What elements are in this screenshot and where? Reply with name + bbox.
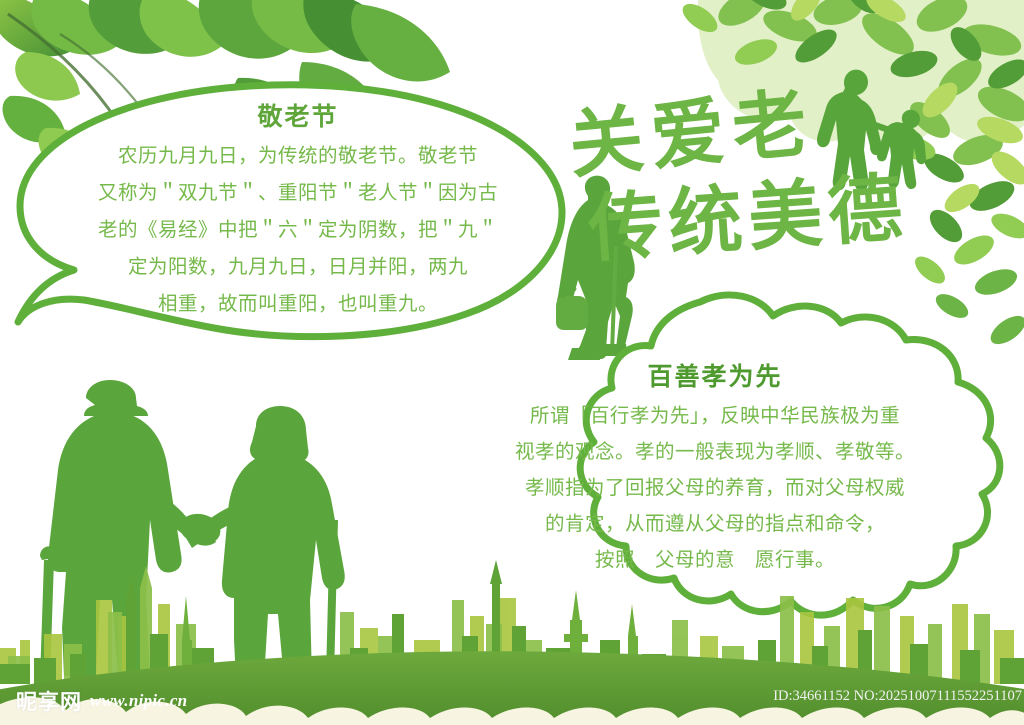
bubble1-body: 农历九月九日，为传统的敬老节。敬老节 又称为＂双九节＂、重阳节＂老人节＂因为古 … xyxy=(88,138,508,323)
bubble2-body: 所谓「百行孝为先」，反映中华民族极为重 视孝的观念。孝的一般表现为孝顺、孝敬等。… xyxy=(500,398,930,578)
bubble1-line-3: 老的《易经》中把＂六＂定为阴数，把＂九＂ xyxy=(88,212,508,249)
bubble1-title: 敬老节 xyxy=(88,100,508,134)
bubble1-line-5: 相重，故而叫重阳，也叫重九。 xyxy=(88,286,508,323)
bubble-jinglaojie: 敬老节 农历九月九日，为传统的敬老节。敬老节 又称为＂双九节＂、重阳节＂老人节＂… xyxy=(88,100,508,323)
poster-headline: 关爱老 传统美德 xyxy=(574,78,1024,268)
watermark-id: ID:34661152 NO:20251007111552251107 xyxy=(773,688,1022,705)
bubble2-line-5: 按照 父母的意 愿行事。 xyxy=(500,542,930,578)
headline-line-2: 传统美德 xyxy=(585,148,912,277)
watermark-logo: 昵享网 xyxy=(16,686,82,716)
bubble2-line-1: 所谓「百行孝为先」，反映中华民族极为重 xyxy=(500,398,930,434)
bubble-baishanxiaoweixian: 百善孝为先 所谓「百行孝为先」，反映中华民族极为重 视孝的观念。孝的一般表现为孝… xyxy=(500,360,930,578)
bubble1-line-1: 农历九月九日，为传统的敬老节。敬老节 xyxy=(88,138,508,175)
poster-canvas: 关爱老 传统美德 敬老节 农历九月九日，为传统的敬老节。敬老节 又称为＂双九节＂… xyxy=(0,0,1024,725)
bubble2-line-3: 孝顺指为了回报父母的养育，而对父母权威 xyxy=(500,470,930,506)
bubble1-line-4: 定为阳数，九月九日，日月并阳，两九 xyxy=(88,249,508,286)
watermark-url: www.nipic.cn xyxy=(90,691,187,711)
watermark-brand: 昵享网 www.nipic.cn xyxy=(16,686,187,716)
bubble2-line-2: 视孝的观念。孝的一般表现为孝顺、孝敬等。 xyxy=(500,434,930,470)
bubble1-line-2: 又称为＂双九节＂、重阳节＂老人节＂因为古 xyxy=(88,175,508,212)
bubble2-line-4: 的肯定，从而遵从父母的指点和命令， xyxy=(500,506,930,542)
bubble2-title: 百善孝为先 xyxy=(500,360,930,394)
